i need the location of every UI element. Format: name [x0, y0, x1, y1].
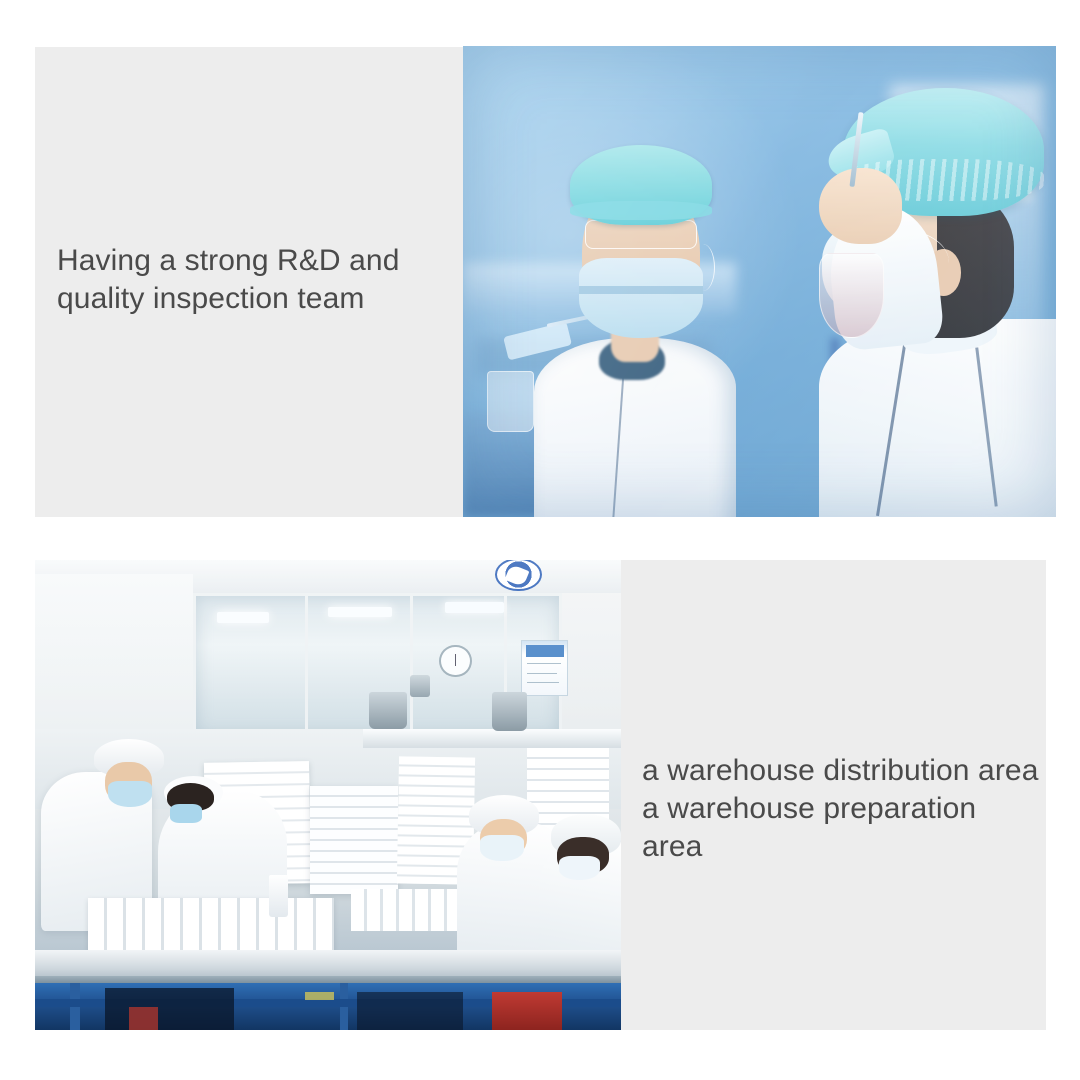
promo-collage: Having a strong R&D and quality inspecti… — [0, 0, 1080, 1080]
rd-quality-caption: Having a strong R&D and quality inspecti… — [57, 242, 457, 318]
rd-quality-inspection-photo — [463, 46, 1056, 517]
warehouse-caption: a warehouse distribution area a warehous… — [642, 752, 1042, 866]
warehouse-packing-photo — [35, 560, 621, 1030]
warehouse-light-overlay — [35, 560, 621, 1030]
lab-vignette — [463, 46, 1056, 517]
